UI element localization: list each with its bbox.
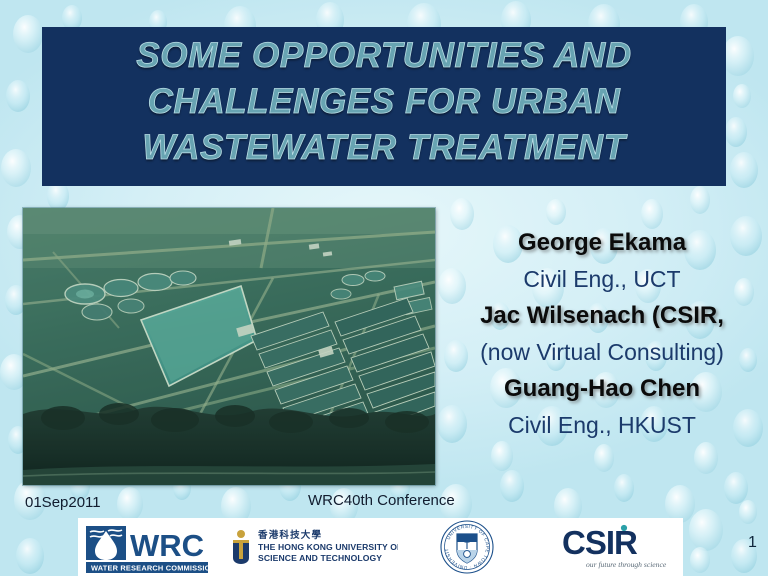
uct-crest-icon: UNIVERSITY OF CAPE TOWN · UNIVERSITY OF …	[423, 518, 493, 573]
presentation-slide: SOME OPPORTUNITIES AND CHALLENGES FOR UR…	[0, 0, 768, 576]
wastewater-treatment-plant-photo: Aerial photograph of an urban wastewater…	[23, 208, 435, 485]
conference-label: WRC40th Conference	[308, 492, 455, 509]
author-affiliation: Civil Eng., HKUST	[444, 405, 760, 445]
hkust-logo: The Hong Kong University of Science and …	[228, 518, 398, 576]
page-title: SOME OPPORTUNITIES AND CHALLENGES FOR UR…	[42, 33, 726, 171]
author-affiliation: Civil Eng., UCT	[444, 259, 760, 299]
svg-text:香港科技大學: 香港科技大學	[257, 529, 322, 541]
title-line-2: CHALLENGES FOR URBAN	[42, 79, 726, 125]
slide-title-bar: SOME OPPORTUNITIES AND CHALLENGES FOR UR…	[42, 27, 726, 186]
author-name: Guang-Hao Chen	[444, 372, 760, 405]
svg-text:THE HONG KONG UNIVERSITY OF: THE HONG KONG UNIVERSITY OF	[258, 542, 398, 552]
sponsor-logo-band: Water Research Commission WRC	[78, 518, 683, 576]
author-list: George Ekama Civil Eng., UCT Jac Wilsena…	[444, 226, 760, 445]
title-line-3: WASTEWATER TREATMENT	[42, 125, 726, 171]
svg-text:SCIENCE AND TECHNOLOGY: SCIENCE AND TECHNOLOGY	[258, 553, 382, 563]
author-affiliation: (now Virtual Consulting)	[444, 332, 760, 372]
hkust-emblem-icon	[233, 530, 249, 564]
csir-wordmark-icon: CSIR	[562, 524, 638, 561]
csir-logo: CSIR CSIR our future through science	[558, 518, 683, 576]
wrc-logo: Water Research Commission WRC	[82, 518, 212, 576]
uct-logo: University of Cape Town UNIVERSITY OF CA…	[423, 518, 543, 576]
water-drop-icon	[86, 526, 126, 560]
author-name: George Ekama	[444, 226, 760, 259]
title-line-1: SOME OPPORTUNITIES AND	[42, 33, 726, 79]
author-name: Jac Wilsenach (CSIR,	[444, 299, 760, 332]
svg-text:WATER RESEARCH COMMISSION: WATER RESEARCH COMMISSION	[91, 564, 212, 573]
svg-text:WRC: WRC	[130, 528, 204, 563]
svg-text:our future through science: our future through science	[586, 560, 667, 569]
date-label: 01Sep2011	[25, 494, 101, 511]
slide-number: 1	[748, 534, 757, 552]
